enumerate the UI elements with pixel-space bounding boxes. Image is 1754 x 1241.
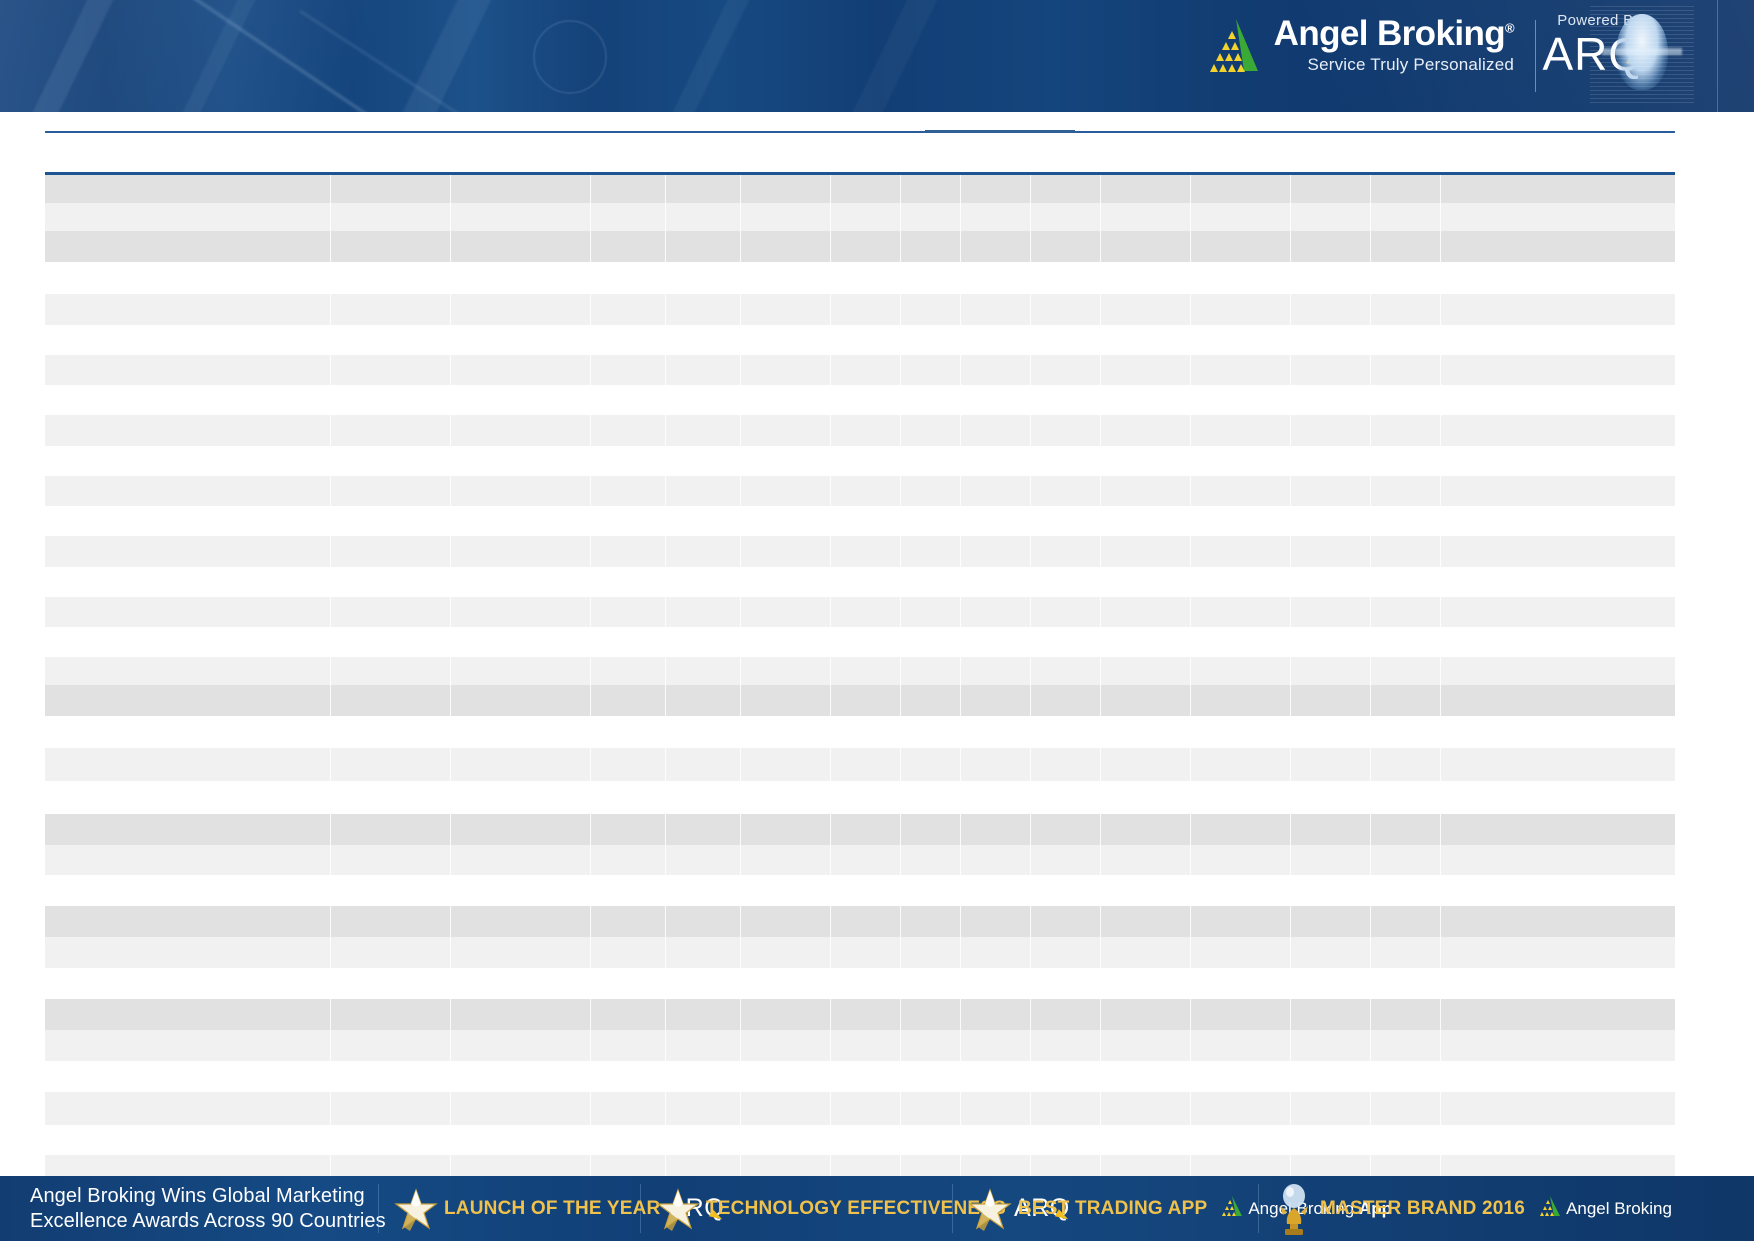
award-label: LAUNCH OF THE YEAR [444, 1198, 660, 1220]
award-label: BEST TRADING APP [1018, 1198, 1207, 1220]
footer-divider [378, 1184, 379, 1233]
page-root: Angel Broking® Service Truly Personalize… [0, 0, 1754, 1241]
header-banner: Angel Broking® Service Truly Personalize… [0, 0, 1754, 112]
angel-broking-triangle-icon [1206, 17, 1260, 73]
table-row [45, 203, 1675, 231]
registered-mark: ® [1505, 20, 1514, 35]
table-row [45, 415, 1675, 446]
table-row [45, 657, 1675, 685]
angel-broking-triangle-icon [1217, 1195, 1243, 1222]
header-right-divider [1717, 0, 1718, 112]
angel-broking-triangle-icon [1535, 1195, 1561, 1222]
table-row [45, 175, 1675, 203]
header-texture-circle [533, 20, 607, 94]
star-award-icon [968, 1187, 1012, 1231]
table-row [45, 1125, 1675, 1155]
awards-footer-banner: Angel Broking Wins Global Marketing Exce… [0, 1176, 1754, 1241]
header-texture-streak [398, 0, 496, 112]
header-texture-diagonal [299, 10, 686, 112]
award-brand-angel: Angel Broking [1535, 1195, 1672, 1222]
table-row [45, 476, 1675, 506]
award-brand-text: Angel Broking [1566, 1199, 1672, 1219]
document-sheet [0, 112, 1754, 1176]
angel-broking-wordmark: Angel Broking® Service Truly Personalize… [1274, 16, 1514, 73]
table-row [45, 294, 1675, 325]
table-row [45, 1061, 1675, 1092]
award-label: MASTER BRAND 2016 [1320, 1198, 1525, 1220]
brand-tagline: Service Truly Personalized [1308, 56, 1514, 73]
header-texture-streak [668, 0, 754, 112]
award-label: TECHNOLOGY EFFECTIVENESS [706, 1198, 1006, 1220]
table-row [45, 845, 1675, 875]
table-row [45, 231, 1675, 262]
table-row [45, 906, 1675, 937]
table-row [45, 937, 1675, 968]
table-row [45, 536, 1675, 567]
table-row [45, 567, 1675, 597]
ai-face-icon [1590, 6, 1694, 106]
header-texture-streak [28, 0, 118, 112]
table-row [45, 814, 1675, 845]
table-row [45, 325, 1675, 355]
table-row [45, 685, 1675, 716]
document-top-rule-accent [925, 130, 1075, 133]
star-award-icon [656, 1187, 700, 1231]
table-row [45, 385, 1675, 415]
table-row [45, 262, 1675, 294]
table-row [45, 748, 1675, 781]
table-row [45, 597, 1675, 627]
table-row [45, 875, 1675, 906]
table-row [45, 781, 1675, 814]
table-body [45, 172, 1675, 1241]
table-row [45, 1092, 1675, 1125]
document-top-rule [45, 131, 1675, 133]
data-table [45, 172, 1675, 1241]
table-row [45, 506, 1675, 536]
trophy-award-icon [1274, 1184, 1314, 1234]
table-row [45, 1030, 1675, 1061]
awards-headline: Angel Broking Wins Global Marketing Exce… [30, 1176, 386, 1241]
angel-broking-logo: Angel Broking® Service Truly Personalize… [1206, 16, 1514, 73]
table-row [45, 627, 1675, 657]
ai-face-scanlines [1590, 6, 1694, 106]
table-row [45, 355, 1675, 385]
table-row [45, 999, 1675, 1030]
award-item: MASTER BRAND 2016 [1274, 1176, 1672, 1241]
header-texture-streak [848, 0, 942, 112]
star-award-icon [394, 1187, 438, 1231]
table-row [45, 968, 1675, 999]
brand-divider [1535, 20, 1536, 92]
table-row [45, 446, 1675, 476]
brand-name: Angel Broking® [1274, 16, 1514, 51]
table-row [45, 716, 1675, 748]
